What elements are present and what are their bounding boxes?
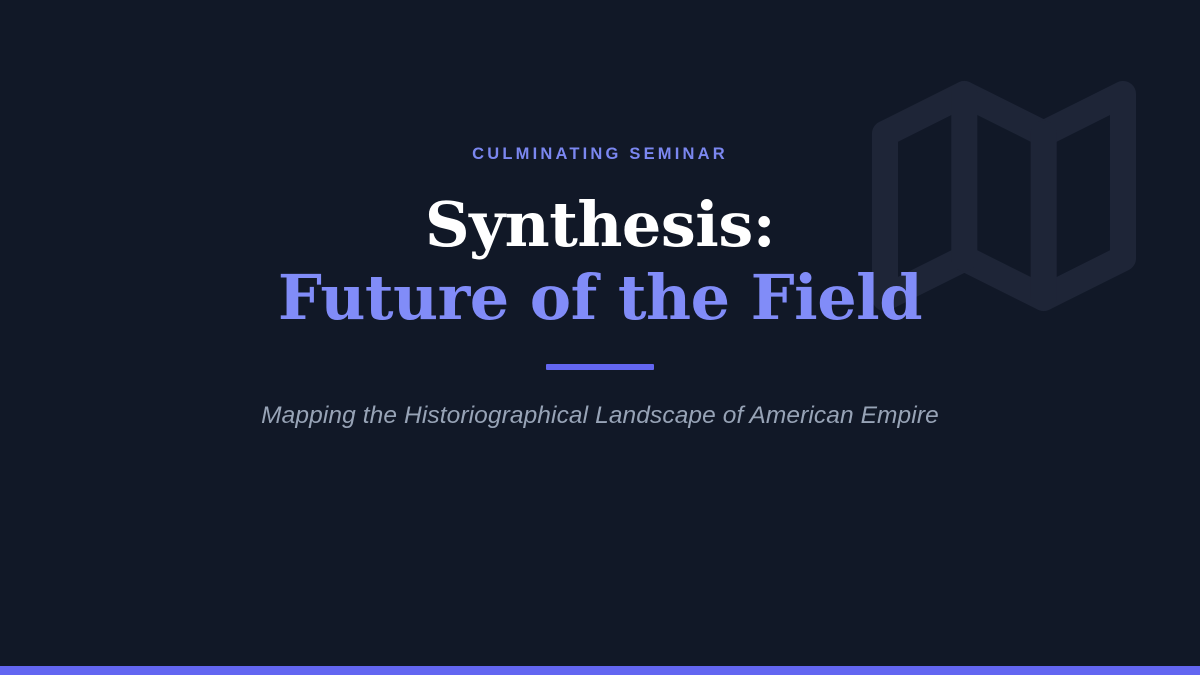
presentation-slide: CULMINATING SEMINAR Synthesis: Future of…: [0, 0, 1200, 675]
page-title: Synthesis: Future of the Field: [278, 188, 922, 334]
bottom-accent-bar: [0, 666, 1200, 675]
title-line-primary: Synthesis:: [278, 188, 922, 261]
title-line-secondary: Future of the Field: [278, 261, 922, 334]
slide-content: CULMINATING SEMINAR Synthesis: Future of…: [0, 0, 1200, 666]
title-divider: [546, 364, 654, 370]
eyebrow-label: CULMINATING SEMINAR: [472, 146, 728, 163]
subtitle-text: Mapping the Historiographical Landscape …: [261, 400, 939, 432]
